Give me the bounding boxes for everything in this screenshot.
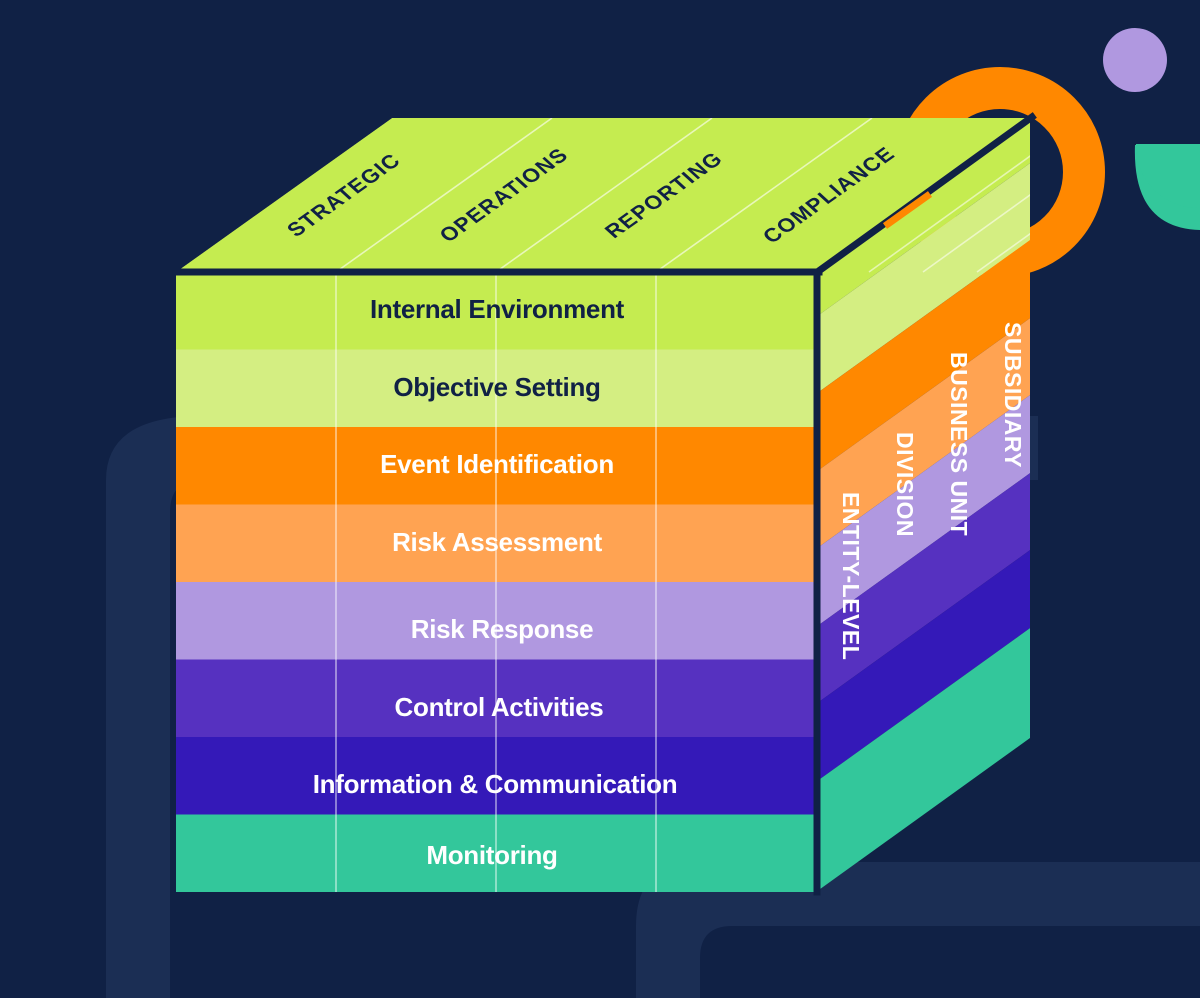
side-label-business-unit: BUSINESS UNIT xyxy=(946,352,972,536)
side-label-entity-level: ENTITY-LEVEL xyxy=(838,492,864,660)
front-label-monitoring: Monitoring xyxy=(426,840,557,870)
front-label-control-activities: Control Activities xyxy=(395,692,604,722)
front-label-event-identification: Event Identification xyxy=(380,449,614,479)
front-label-information-communication: Information & Communication xyxy=(313,769,678,799)
front-label-internal-environment: Internal Environment xyxy=(370,294,625,324)
diagram-canvas: STRATEGIC OPERATIONS REPORTING COMPLIANC… xyxy=(0,0,1200,998)
front-face xyxy=(176,272,816,892)
side-label-division: DIVISION xyxy=(892,432,918,537)
side-label-subsidiary: SUBSIDIARY xyxy=(1000,322,1026,468)
front-label-objective-setting: Objective Setting xyxy=(393,372,600,402)
front-label-risk-response: Risk Response xyxy=(411,614,594,644)
front-label-risk-assessment: Risk Assessment xyxy=(392,527,603,557)
coso-cube: STRATEGIC OPERATIONS REPORTING COMPLIANC… xyxy=(0,0,1200,998)
